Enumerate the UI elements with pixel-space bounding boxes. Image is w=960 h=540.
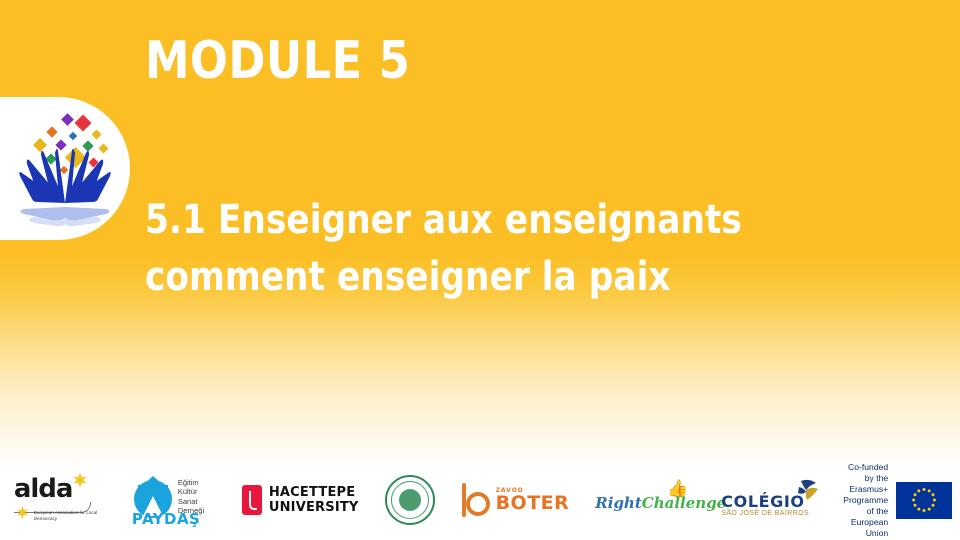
hacettepe-line-2: UNIVERSITY bbox=[269, 500, 359, 515]
partner-logo-boter: ZAVOD BOTER bbox=[461, 471, 570, 529]
partner-logo-rightchallenge: 👍 RightChallenge bbox=[595, 471, 695, 529]
brand-logo-badge bbox=[0, 97, 130, 240]
alda-tagline: European Association for Local Democracy bbox=[34, 510, 104, 521]
rightchallenge-part-1: Right bbox=[595, 494, 642, 512]
partner-logos-strip: alda European Association for Local Demo… bbox=[0, 460, 960, 540]
hacettepe-line-1: HACETTEPE bbox=[269, 485, 359, 500]
hacettepe-mark-icon bbox=[242, 485, 262, 515]
paydas-wordmark: PAYDAŞ bbox=[132, 510, 201, 528]
partner-logo-hacettepe: HACETTEPE UNIVERSITY bbox=[242, 471, 359, 529]
erasmus-line-1: Co-funded by the bbox=[843, 462, 888, 484]
module-title: MODULE 5 bbox=[145, 33, 410, 89]
eu-flag-icon bbox=[896, 482, 952, 519]
alda-star-small-icon bbox=[16, 506, 29, 519]
open-book-sparkles-icon bbox=[8, 107, 122, 229]
partner-logo-colegio: COLÉGIO SÃO JOSÉ DE BAIRROS bbox=[721, 471, 817, 529]
green-seal-core bbox=[399, 489, 421, 511]
alda-wordmark: alda bbox=[14, 476, 73, 502]
boter-wordmark: BOTER bbox=[496, 494, 570, 513]
partner-logo-alda: alda European Association for Local Demo… bbox=[8, 471, 104, 529]
slide-root: MODULE 5 5.1 Enseigner aux enseignants c… bbox=[0, 0, 960, 540]
lesson-title-line-2: comment enseigner la paix bbox=[145, 249, 695, 306]
lesson-title-line-1: 5.1 Enseigner aux enseignants bbox=[145, 192, 695, 249]
green-seal-icon bbox=[385, 475, 435, 525]
rightchallenge-part-2: Challenge bbox=[642, 494, 726, 512]
partner-logo-paydas: Eğitim Kültür Sanat Derneği PAYDAŞ bbox=[130, 471, 216, 529]
lesson-title: 5.1 Enseigner aux enseignants comment en… bbox=[145, 192, 695, 306]
partner-logo-green-seal bbox=[385, 471, 435, 529]
partner-logo-erasmus: Co-funded by the Erasmus+ Programme of t… bbox=[843, 471, 952, 529]
erasmus-line-2: Erasmus+ Programme bbox=[843, 484, 888, 506]
erasmus-line-3: of the European Union bbox=[843, 506, 888, 539]
colegio-tagline: SÃO JOSÉ DE BAIRROS bbox=[721, 510, 809, 517]
alda-star-icon bbox=[72, 472, 88, 488]
colegio-wordmark: COLÉGIO bbox=[721, 492, 804, 511]
erasmus-text-block: Co-funded by the Erasmus+ Programme of t… bbox=[843, 462, 888, 539]
boter-b-icon bbox=[461, 483, 491, 517]
